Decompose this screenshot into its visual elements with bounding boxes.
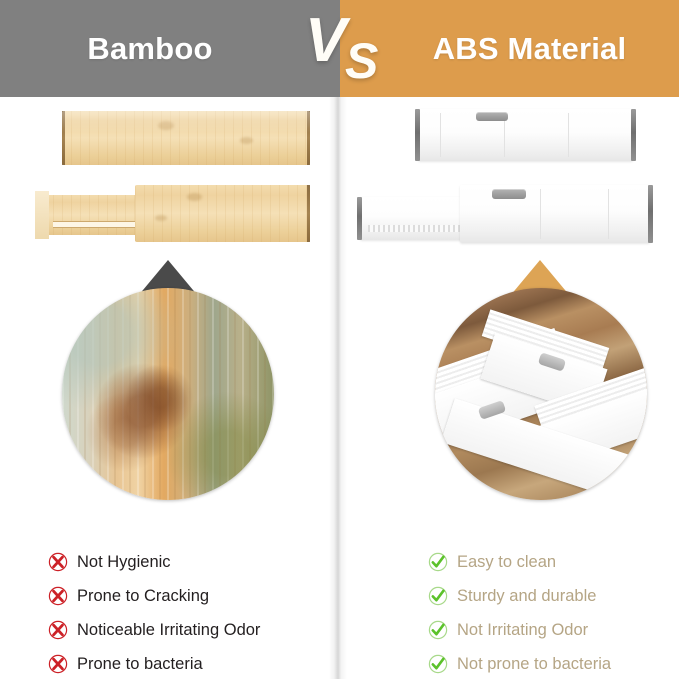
header-right-title: ABS Material: [380, 0, 679, 97]
list-item-label: Prone to Cracking: [77, 588, 209, 605]
list-item-label: Noticeable Irritating Odor: [77, 622, 260, 639]
red-x-icon: [48, 552, 68, 572]
vs-letter-v: V: [305, 10, 346, 72]
bamboo-divider-compact-photo: [62, 111, 310, 165]
header-left-title: Bamboo: [0, 0, 300, 97]
green-check-icon: [428, 552, 448, 572]
red-x-icon: [48, 586, 68, 606]
abs-pros-list: Easy to clean Sturdy and durable Not Irr…: [428, 548, 679, 679]
product-photo-row: [0, 97, 679, 257]
list-item-label: Sturdy and durable: [457, 588, 596, 605]
bamboo-divider-extended-photo: [35, 185, 310, 242]
list-item: Easy to clean: [428, 548, 679, 576]
vs-letter-s: S: [345, 36, 378, 86]
list-item-label: Not Irritating Odor: [457, 622, 588, 639]
list-item: Sturdy and durable: [428, 582, 679, 610]
list-item-label: Prone to bacteria: [77, 656, 203, 673]
green-check-icon: [428, 654, 448, 674]
list-item: Prone to bacteria: [48, 650, 348, 678]
abs-divider-compact-photo: [418, 109, 633, 161]
list-item: Noticeable Irritating Odor: [48, 616, 348, 644]
bamboo-cons-list: Not Hygienic Prone to Cracking Noticeabl…: [48, 548, 348, 679]
vs-badge: V S: [303, 8, 383, 96]
list-item: Not Hygienic: [48, 548, 348, 576]
green-check-icon: [428, 620, 448, 640]
list-item-label: Not Hygienic: [77, 554, 171, 571]
green-check-icon: [428, 586, 448, 606]
red-x-icon: [48, 654, 68, 674]
list-item: Not prone to bacteria: [428, 650, 679, 678]
list-item-label: Easy to clean: [457, 554, 556, 571]
abs-detail-circle: [435, 288, 647, 500]
list-item: Not Irritating Odor: [428, 616, 679, 644]
list-item: Prone to Cracking: [48, 582, 348, 610]
list-item-label: Not prone to bacteria: [457, 656, 611, 673]
abs-divider-extended-photo: [360, 185, 650, 243]
comparison-infographic: Bamboo ABS Material V S: [0, 0, 679, 679]
bamboo-detail-circle: [62, 288, 274, 500]
red-x-icon: [48, 620, 68, 640]
header-banner: Bamboo ABS Material V S: [0, 0, 679, 97]
